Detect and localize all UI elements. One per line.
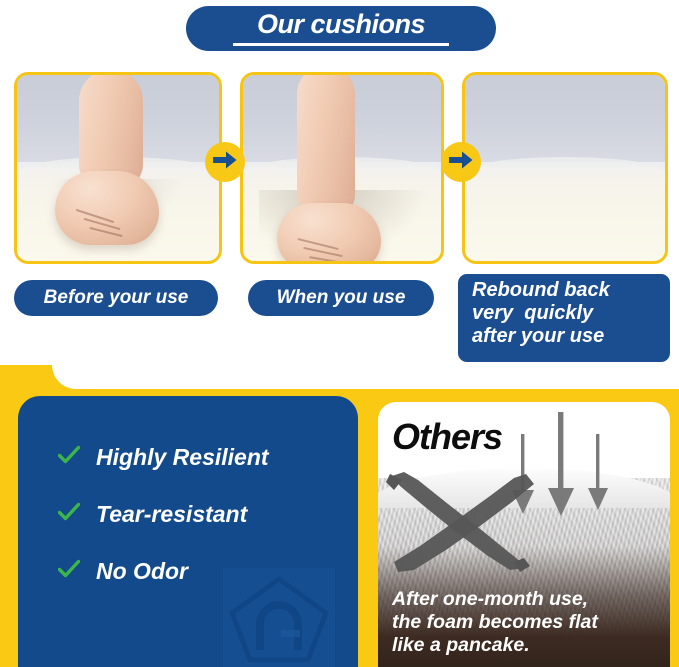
pentagon-house-a-logo-icon xyxy=(223,568,335,667)
photo-background-wall xyxy=(465,75,665,162)
caption-rebound-line-1: Rebound back xyxy=(472,279,610,302)
caption-rebound-line-3: after your use xyxy=(472,325,604,348)
check-mark-icon xyxy=(58,445,80,470)
feature-label: Highly Resilient xyxy=(96,444,269,471)
foam-photo-rebounded xyxy=(465,75,665,261)
caption-when-in-use: When you use xyxy=(248,280,434,316)
feature-no-odor: No Odor xyxy=(58,558,188,585)
forearm xyxy=(297,72,355,215)
others-caption-line-3: like a pancake. xyxy=(392,634,598,657)
demo-panel-rebound xyxy=(462,72,668,264)
others-caption: After one-month use, the foam becomes fl… xyxy=(392,588,598,657)
features-card: Highly Resilient Tear-resistant No Odor xyxy=(18,396,358,667)
foam-photo-when-in-use xyxy=(243,75,441,261)
page-title-banner: Our cushions xyxy=(186,6,496,51)
others-caption-line-1: After one-month use, xyxy=(392,588,598,611)
fist xyxy=(277,203,381,264)
demo-panel-before-use xyxy=(14,72,222,264)
caption-before-use: Before your use xyxy=(14,280,218,316)
feature-highly-resilient: Highly Resilient xyxy=(58,444,269,471)
check-mark-icon xyxy=(58,502,80,527)
arrow-right-icon xyxy=(213,151,237,174)
check-mark-icon xyxy=(58,559,80,584)
caption-rebound-line-2: very quickly xyxy=(472,302,593,325)
foam-top-surface xyxy=(465,172,665,261)
fist xyxy=(55,171,159,245)
forearm xyxy=(79,72,143,187)
x-cross-brush-icon xyxy=(384,470,536,579)
others-caption-line-2: the foam becomes flat xyxy=(392,611,598,634)
feature-label: No Odor xyxy=(96,558,188,585)
page-title: Our cushions xyxy=(257,11,425,40)
title-underline xyxy=(233,43,449,46)
feature-tear-resistant: Tear-resistant xyxy=(58,501,247,528)
demo-panel-when-in-use xyxy=(240,72,444,264)
yellow-band-notch xyxy=(52,365,679,389)
caption-rebound: Rebound back very quickly after your use xyxy=(458,274,670,362)
feature-label: Tear-resistant xyxy=(96,501,247,528)
foam-photo-before-use xyxy=(17,75,219,261)
others-comparison-card: Others After one-month use, the foam xyxy=(378,402,670,667)
arrow-right-icon xyxy=(449,151,473,174)
arrow-step-1-to-2 xyxy=(205,142,245,182)
others-title: Others xyxy=(392,416,502,458)
arrow-step-2-to-3 xyxy=(441,142,481,182)
